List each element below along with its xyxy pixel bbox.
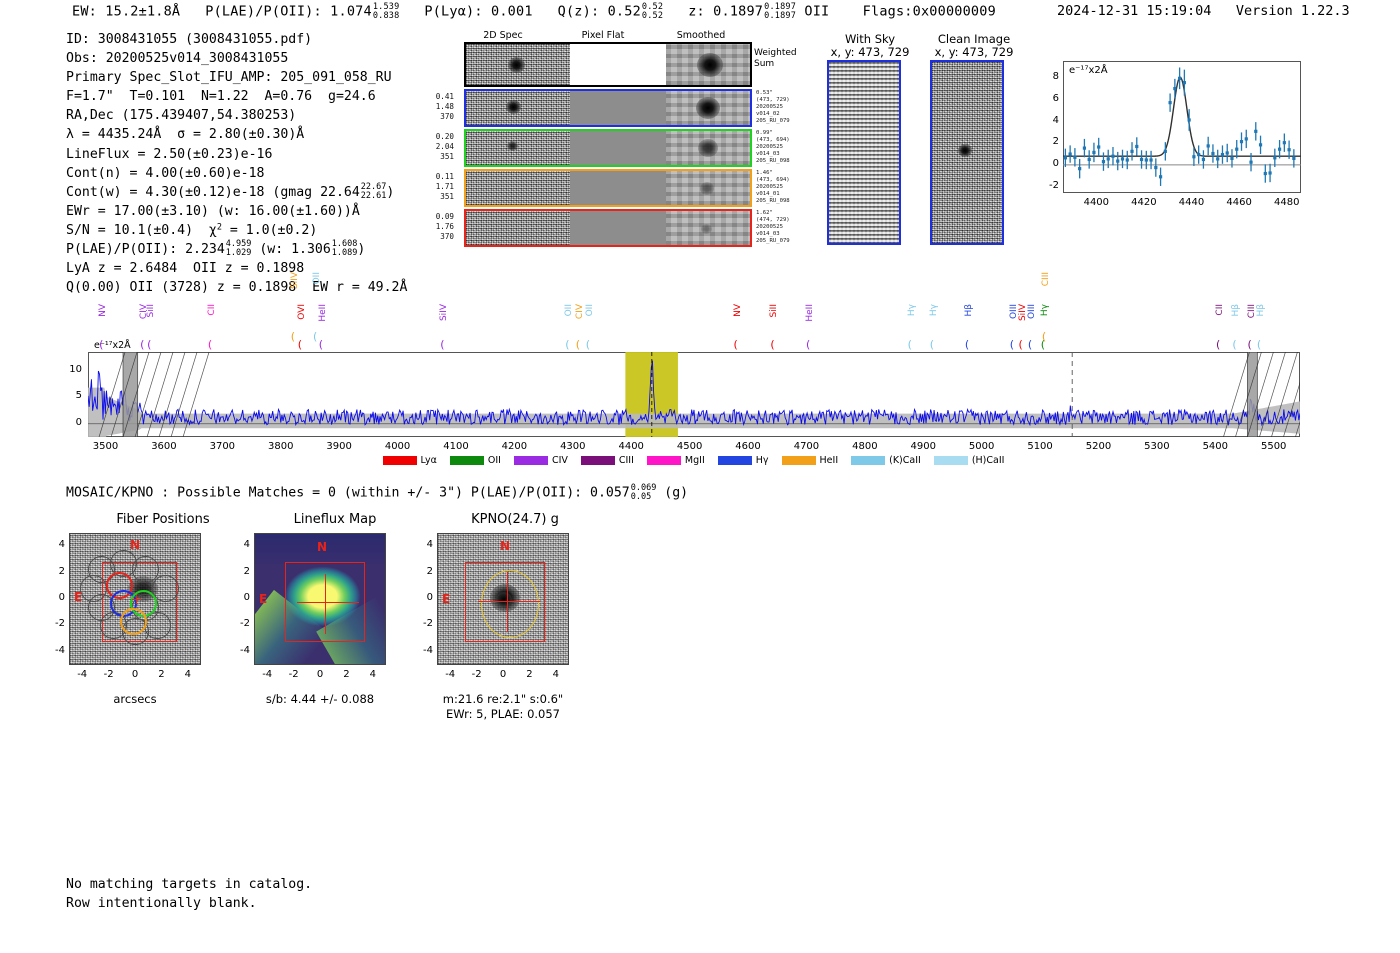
spectral-line-label: CIV <box>575 304 585 319</box>
emission-ytick: 0 <box>1035 158 1059 169</box>
spectrum-ytick: 0 <box>52 417 82 428</box>
fiber-positions-title: Fiber Positions <box>63 512 263 527</box>
spectral-line-label: Hγ <box>929 304 939 316</box>
spectrum-xtick: 3700 <box>200 441 244 452</box>
spectral-line-bracket-icon: ( <box>908 338 912 351</box>
legend-label: HeII <box>820 455 839 466</box>
info-line-obs: Obs: 20200525v014_3008431055 <box>66 49 407 68</box>
fiber-circle-orange <box>120 608 147 635</box>
spectral-line-label: CIII <box>1041 272 1051 286</box>
legend-label: (K)CaII <box>889 455 921 466</box>
kpno-image: N E <box>437 533 569 665</box>
lineflux-map-image: N E <box>254 533 386 665</box>
spectrum-xtick: 4000 <box>376 441 420 452</box>
spectral-line-label: Hβ <box>1231 304 1241 317</box>
header-plae-lo: 0.838 <box>373 11 400 21</box>
spec2d-row-weighted-sum <box>464 42 752 87</box>
spectral-line-bracket-icon: ( <box>1232 338 1236 351</box>
spectral-line-bracket-icon: ( <box>140 338 144 351</box>
fiber-positions-compass-e: E <box>74 590 82 604</box>
spectral-line-label: OVI <box>297 304 307 320</box>
header-ew: EW: 15.2±1.8Å <box>72 4 180 20</box>
spectral-line-label: HeII <box>805 304 815 322</box>
header-plae-value: 1.074 <box>330 4 372 20</box>
emission-xtick: 4400 <box>1080 197 1112 208</box>
panel-ytick: 4 <box>411 539 433 550</box>
legend-item: HeII <box>782 455 839 466</box>
legend-swatch <box>782 456 816 465</box>
spectral-line-bracket-icon: ( <box>1257 338 1261 351</box>
spec2d-col-title-2dspec: 2D Spec <box>460 30 546 41</box>
emission-xtick: 4460 <box>1223 197 1255 208</box>
spectral-line-bracket-icon: ( <box>770 338 774 351</box>
spectral-line-bracket-icon: ( <box>1019 338 1023 351</box>
spectrum-xtick: 3500 <box>84 441 128 452</box>
spec2d-cell-pixelflat <box>570 44 666 85</box>
legend-swatch <box>718 456 752 465</box>
spec2d-row-1-meta: 0.53"(473, 729)20200525v014_02205_RU_079 <box>756 90 790 125</box>
spec2d-row-4-leftmeta: 0.091.76370 <box>428 212 454 241</box>
spectrum-xtick: 5100 <box>1018 441 1062 452</box>
header-datetime: 2024-12-31 15:19:04 <box>1057 3 1211 19</box>
kpno-compass-e: E <box>442 592 450 606</box>
header-qz: Q(z): 0.52 <box>558 4 641 20</box>
header-version: Version 1.22.3 <box>1236 3 1350 19</box>
spectrum-ytick: 10 <box>52 364 82 375</box>
fiber-positions-compass-n: N <box>130 538 140 552</box>
spec2d-weighted-sum-label: WeightedSum <box>754 48 797 69</box>
spectral-line-bracket-icon: ( <box>291 330 295 343</box>
mosaic-text: MOSAIC/KPNO : Possible Matches = 0 (with… <box>66 486 630 501</box>
info-line-plae: P(LAE)/P(OII): 2.2344.9591.029 (w: 1.306… <box>66 240 407 259</box>
emission-ytick: 8 <box>1035 71 1059 82</box>
panel-xtick: 4 <box>358 669 388 680</box>
panel-ytick: -2 <box>411 618 433 629</box>
legend-label: CIV <box>552 455 568 466</box>
spectrum-xtick: 3600 <box>142 441 186 452</box>
spectral-line-bracket-icon: ( <box>586 338 590 351</box>
spectral-line-bracket-icon: ( <box>1042 330 1046 343</box>
panel-ytick: -4 <box>43 645 65 656</box>
full-spectrum-units-label: e⁻¹⁷x2Å <box>94 340 131 351</box>
spectral-line-label: CIV <box>139 304 149 319</box>
spec2d-row-1-leftmeta: 0.411.48370 <box>428 92 454 121</box>
kpno-ellipse <box>481 570 539 638</box>
mosaic-filter: (g) <box>664 486 688 501</box>
spectral-line-label: NV <box>98 304 108 317</box>
header-summary-line: EW: 15.2±1.8Å P(LAE)/P(OII): 1.0741.5390… <box>72 3 996 20</box>
legend-swatch <box>514 456 548 465</box>
info-line-ewr: EWr = 17.00(±3.10) (w: 16.00(±1.60))Å <box>66 202 407 221</box>
panel-ytick: -2 <box>43 618 65 629</box>
spectrum-xtick: 5400 <box>1193 441 1237 452</box>
header-z: z: 0.1897 <box>688 4 763 20</box>
spectrum-xtick: 4600 <box>726 441 770 452</box>
spectrum-ytick: 5 <box>52 390 82 401</box>
spectral-line-bracket-icon: ( <box>734 338 738 351</box>
legend-swatch <box>647 456 681 465</box>
emission-line-data <box>1063 61 1301 193</box>
spectrum-legend: LyαOIICIVCIIIMgIIHγHeII(K)CaII(H)CaII <box>0 455 1400 466</box>
kpno-caption-1: m:21.6 re:2.1" s:0.6" <box>427 692 579 706</box>
spectral-line-label: OIII <box>1027 304 1037 319</box>
legend-item: CIII <box>581 455 634 466</box>
spectral-line-bracket-icon: ( <box>965 338 969 351</box>
spectrum-xtick: 5300 <box>1135 441 1179 452</box>
spec2d-col-title-pixelflat: Pixel Flat <box>560 30 646 41</box>
panel-ytick: 0 <box>411 592 433 603</box>
spectral-line-label: OII <box>312 272 322 284</box>
lineflux-map-compass-n: N <box>317 540 327 554</box>
footer-note: No matching targets in catalog. Row inte… <box>66 875 312 913</box>
info-line-specslot: Primary Spec_Slot_IFU_AMP: 205_091_058_R… <box>66 68 407 87</box>
spectral-line-bracket-icon: ( <box>313 330 317 343</box>
emission-xtick: 4420 <box>1128 197 1160 208</box>
legend-swatch <box>581 456 615 465</box>
panel-ytick: 0 <box>228 592 250 603</box>
emission-ytick: 2 <box>1035 136 1059 147</box>
legend-label: Lyα <box>421 455 437 466</box>
cutout-clean-title: Clean Imagex, y: 473, 729 <box>928 33 1020 59</box>
header-flags: Flags:0x00000009 <box>863 4 996 20</box>
legend-item: MgII <box>647 455 705 466</box>
header-timestamp-version: 2024-12-31 15:19:04 Version 1.22.3 <box>1057 3 1350 19</box>
panel-xtick: 4 <box>173 669 203 680</box>
legend-swatch <box>450 456 484 465</box>
panel-ytick: 2 <box>411 566 433 577</box>
panel-ytick: -4 <box>228 645 250 656</box>
spectrum-xtick: 3900 <box>317 441 361 452</box>
spectrum-xtick: 4800 <box>843 441 887 452</box>
lineflux-map-caption: s/b: 4.44 +/- 0.088 <box>244 692 396 706</box>
spectral-line-label: Hβ <box>1256 304 1266 317</box>
panel-ytick: -4 <box>411 645 433 656</box>
spec2d-row-4-meta: 1.62"(474, 729)20200525v014_03205_RU_079 <box>756 210 790 245</box>
spectrum-xtick: 4400 <box>609 441 653 452</box>
spec2d-cell-smoothed <box>666 44 750 85</box>
spec2d-row-2-meta: 0.99"(473, 694)20200525v014_03205_RU_098 <box>756 130 790 165</box>
header-plae-label: P(LAE)/P(OII): <box>205 4 322 20</box>
spec2d-row-fiber-1 <box>464 89 752 127</box>
spectral-line-bracket-icon: ( <box>298 338 302 351</box>
spec2d-row-3-leftmeta: 0.111.71351 <box>428 172 454 201</box>
legend-label: OII <box>488 455 501 466</box>
spectral-line-label: OII <box>564 304 574 316</box>
spectrum-xtick: 4500 <box>668 441 712 452</box>
panel-ytick: 4 <box>43 539 65 550</box>
info-line-wavelength: λ = 4435.24Å σ = 2.80(±0.30)Å <box>66 125 407 144</box>
spectrum-xtick: 4300 <box>551 441 595 452</box>
emission-xtick: 4440 <box>1176 197 1208 208</box>
source-info-block: ID: 3008431055 (3008431055.pdf) Obs: 202… <box>66 30 407 297</box>
legend-label: (H)CaII <box>972 455 1005 466</box>
spectral-line-label: OII <box>585 304 595 316</box>
spectrum-xtick: 5200 <box>1076 441 1120 452</box>
full-spectrum-data <box>88 352 1300 437</box>
panel-ytick: 2 <box>228 566 250 577</box>
legend-item: (H)CaII <box>934 455 1005 466</box>
legend-swatch <box>851 456 885 465</box>
info-line-seeing: F=1.7" T=0.101 N=1.22 A=0.76 g=24.6 <box>66 87 407 106</box>
mosaic-match-line: MOSAIC/KPNO : Possible Matches = 0 (with… <box>66 484 688 501</box>
kpno-image-title: KPNO(24.7) g <box>420 512 610 527</box>
spec2d-row-fiber-3 <box>464 169 752 207</box>
mosaic-plae-lo: 0.05 <box>631 492 651 502</box>
footer-line-1: No matching targets in catalog. <box>66 875 312 894</box>
spec2d-col-title-smoothed: Smoothed <box>656 30 746 41</box>
legend-swatch <box>383 456 417 465</box>
spectral-line-bracket-icon: ( <box>930 338 934 351</box>
header-z-lo: 0.1897 <box>764 11 796 21</box>
spectral-line-label: SiII <box>769 304 779 318</box>
spectral-line-label: HeII <box>318 304 328 322</box>
legend-swatch <box>934 456 968 465</box>
spectral-line-bracket-icon: ( <box>1216 338 1220 351</box>
spectrum-xtick: 4700 <box>784 441 828 452</box>
spectral-line-label: NV <box>733 304 743 317</box>
legend-item: CIV <box>514 455 568 466</box>
spectral-line-label: SiIV <box>290 272 300 289</box>
spec2d-row-2-leftmeta: 0.202.04351 <box>428 132 454 161</box>
spectral-line-bracket-icon: ( <box>440 338 444 351</box>
legend-label: Hγ <box>756 455 769 466</box>
emission-ytick: 6 <box>1035 93 1059 104</box>
info-line-radec: RA,Dec (175.439407,54.380253) <box>66 106 407 125</box>
panel-ytick: -2 <box>228 618 250 629</box>
spec2d-cell-2dspec <box>466 44 570 85</box>
info-line-id: ID: 3008431055 (3008431055.pdf) <box>66 30 407 49</box>
emission-line-plot: e⁻¹⁷x2Å 44004420444044604480-202468 <box>1035 57 1305 225</box>
spectral-line-label: Hγ <box>1040 304 1050 316</box>
emission-xtick: 4480 <box>1271 197 1303 208</box>
spectral-line-bracket-icon: ( <box>1010 338 1014 351</box>
spectrum-xtick: 4900 <box>901 441 945 452</box>
fiber-positions-image: N E <box>69 533 201 665</box>
cutout-clean-image <box>930 60 1004 245</box>
spectrum-xtick: 4100 <box>434 441 478 452</box>
spectral-line-bracket-icon: ( <box>576 338 580 351</box>
header-plya: P(Lyα): 0.001 <box>424 4 532 20</box>
info-line-contw: Cont(w) = 4.30(±0.12)e-18 (gmag 22.6422.… <box>66 183 407 202</box>
spectrum-xtick: 3800 <box>259 441 303 452</box>
spectral-line-bracket-icon: ( <box>1028 338 1032 351</box>
spectral-line-label: CII <box>207 304 217 316</box>
kpno-compass-n: N <box>500 539 510 553</box>
spectral-line-label: CII <box>1215 304 1225 316</box>
spec2d-row-fiber-4 <box>464 209 752 247</box>
spec2d-row-fiber-2 <box>464 129 752 167</box>
cutout-withsky-title: With Skyx, y: 473, 729 <box>826 33 914 59</box>
full-spectrum-panel: NV(SiII(CIV(CII(OVI(HeII(SiIV(OII(SiIV(O… <box>0 268 1400 468</box>
spectral-line-label: Hβ <box>964 304 974 317</box>
spectral-line-bracket-icon: ( <box>208 338 212 351</box>
spectral-line-bracket-icon: ( <box>806 338 810 351</box>
info-line-sn: S/N = 10.1(±0.4) χ2 = 1.0(±0.2) <box>66 221 407 240</box>
info-line-contn: Cont(n) = 4.00(±0.60)e-18 <box>66 164 407 183</box>
spectral-line-label: SiIV <box>439 304 449 321</box>
panel-ytick: 4 <box>228 539 250 550</box>
spec2d-row-3-meta: 1.46"(473, 694)20200525v014_01205_RU_098 <box>756 170 790 205</box>
info-line-lineflux: LineFlux = 2.50(±0.23)e-16 <box>66 145 407 164</box>
panel-ytick: 0 <box>43 592 65 603</box>
emission-ytick: -2 <box>1035 180 1059 191</box>
spectral-line-bracket-icon: ( <box>147 338 151 351</box>
emission-ytick: 4 <box>1035 115 1059 126</box>
spectral-line-bracket-icon: ( <box>565 338 569 351</box>
panel-xtick: 4 <box>541 669 571 680</box>
footer-line-2: Row intentionally blank. <box>66 894 312 913</box>
fiber-positions-xlabel: arcsecs <box>69 692 201 706</box>
header-qz-lo: 0.52 <box>642 11 663 21</box>
header-z-type: OII <box>804 4 829 20</box>
spectral-line-bracket-icon: ( <box>1248 338 1252 351</box>
spectrum-xtick: 4200 <box>492 441 536 452</box>
legend-item: (K)CaII <box>851 455 921 466</box>
lineflux-map-compass-e: E <box>259 592 267 606</box>
kpno-caption-2: EWr: 5, PLAE: 0.057 <box>427 707 579 721</box>
spectrum-xtick: 5000 <box>960 441 1004 452</box>
lineflux-map-title: Lineflux Map <box>240 512 430 527</box>
legend-label: CIII <box>619 455 634 466</box>
panel-ytick: 2 <box>43 566 65 577</box>
legend-item: OII <box>450 455 501 466</box>
cutout-with-sky <box>827 60 901 245</box>
spectral-line-label: Hγ <box>907 304 917 316</box>
legend-item: Hγ <box>718 455 769 466</box>
legend-label: MgII <box>685 455 705 466</box>
spectrum-xtick: 5500 <box>1252 441 1296 452</box>
spectral-line-bracket-icon: ( <box>319 338 323 351</box>
legend-item: Lyα <box>383 455 437 466</box>
